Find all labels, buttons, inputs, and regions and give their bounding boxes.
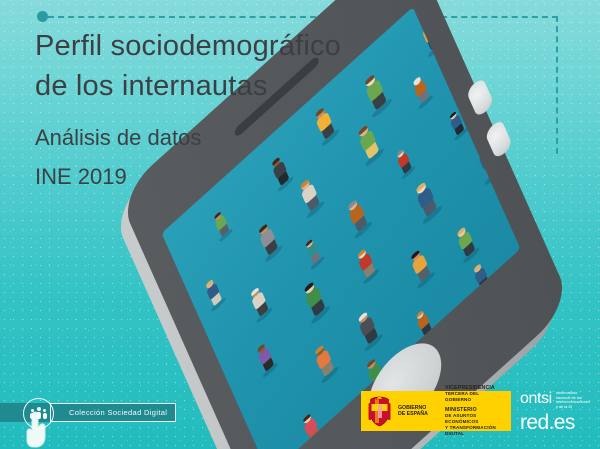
footer-logos: GOBIERNO DE ESPAÑA VICEPRESIDENCIA TERCE… — [361, 391, 590, 435]
government-of-spain-logo: GOBIERNO DE ESPAÑA VICEPRESIDENCIA TERCE… — [361, 391, 511, 431]
dept-line-5: Y TRANSFORMACIÓN DIGITAL — [445, 425, 506, 437]
ontsi-tagline-line-4: y de la SI — [556, 404, 572, 409]
page-title: Perfil sociodemográfico de los internaut… — [35, 26, 455, 106]
volume-button-down[interactable] — [484, 118, 513, 160]
dept-line-2: TERCERA DEL GOBIERNO — [445, 391, 506, 403]
spain-coat-of-arms-icon — [366, 396, 393, 427]
title-line-1: Perfil sociodemográfico — [35, 26, 455, 66]
people-circle-icon — [23, 398, 54, 429]
government-name-line-2: DE ESPAÑA — [398, 411, 440, 417]
dept-line-4: DE ASUNTOS ECONÓMICOS — [445, 413, 506, 425]
government-name: GOBIERNO DE ESPAÑA — [398, 405, 440, 418]
volume-button-up[interactable] — [466, 76, 495, 118]
title-line-2: de los internautas — [35, 66, 455, 106]
collection-label: Colección Sociedad Digital — [69, 408, 167, 417]
subtitle-line-1: Análisis de datos — [35, 118, 201, 157]
redes-wordmark: red.es — [520, 412, 590, 434]
ontsi-tagline: observatorio nacional de las telecomunic… — [556, 391, 590, 409]
government-department: VICEPRESIDENCIA TERCERA DEL GOBIERNO MIN… — [445, 385, 506, 438]
people-glyphs — [30, 407, 48, 421]
ontsi-logo: ontsi observatorio nacional de las telec… — [520, 391, 590, 409]
ontsi-wordmark: ontsi — [520, 391, 552, 407]
cover-page: Perfil sociodemográfico de los internaut… — [0, 0, 600, 449]
ontsi-redes-logos: ontsi observatorio nacional de las telec… — [520, 391, 590, 434]
subtitle-line-2: INE 2019 — [35, 157, 201, 196]
collection-label-box: Colección Sociedad Digital — [50, 403, 176, 422]
page-subtitle: Análisis de datos INE 2019 — [35, 118, 201, 196]
